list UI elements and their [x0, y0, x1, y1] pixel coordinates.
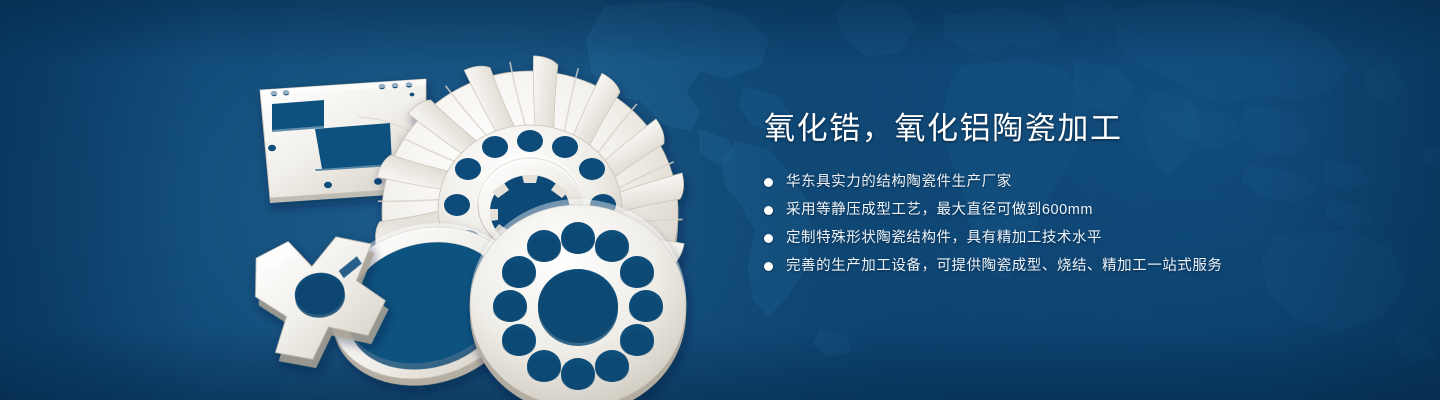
bullet-dot-icon: [764, 262, 773, 271]
list-item-label: 完善的生产加工设备，可提供陶瓷成型、烧结、精加工一站式服务: [786, 256, 1222, 277]
list-item: 采用等静压成型工艺，最大直径可做到600mm: [764, 200, 1324, 221]
bullet-dot-icon: [764, 234, 773, 243]
ceramic-hole-disc: [470, 199, 686, 400]
list-item: 定制特殊形状陶瓷结构件，具有精加工技术水平: [764, 228, 1324, 249]
list-item-label: 定制特殊形状陶瓷结构件，具有精加工技术水平: [786, 228, 1102, 249]
list-item: 华东具实力的结构陶瓷件生产厂家: [764, 172, 1324, 193]
list-item-label: 采用等静压成型工艺，最大直径可做到600mm: [786, 200, 1093, 221]
ceramic-parts-photo: [230, 38, 700, 383]
page-title: 氧化锆，氧化铝陶瓷加工: [764, 108, 1324, 150]
banner-copy: 氧化锆，氧化铝陶瓷加工 华东具实力的结构陶瓷件生产厂家 采用等静压成型工艺，最大…: [764, 108, 1324, 284]
bullet-dot-icon: [764, 206, 773, 215]
feature-list: 华东具实力的结构陶瓷件生产厂家 采用等静压成型工艺，最大直径可做到600mm 定…: [764, 172, 1324, 277]
list-item: 完善的生产加工设备，可提供陶瓷成型、烧结、精加工一站式服务: [764, 256, 1324, 277]
list-item-label: 华东具实力的结构陶瓷件生产厂家: [786, 172, 1012, 193]
bullet-dot-icon: [764, 178, 773, 187]
ceramic-processing-banner: 氧化锆，氧化铝陶瓷加工 华东具实力的结构陶瓷件生产厂家 采用等静压成型工艺，最大…: [0, 0, 1440, 400]
